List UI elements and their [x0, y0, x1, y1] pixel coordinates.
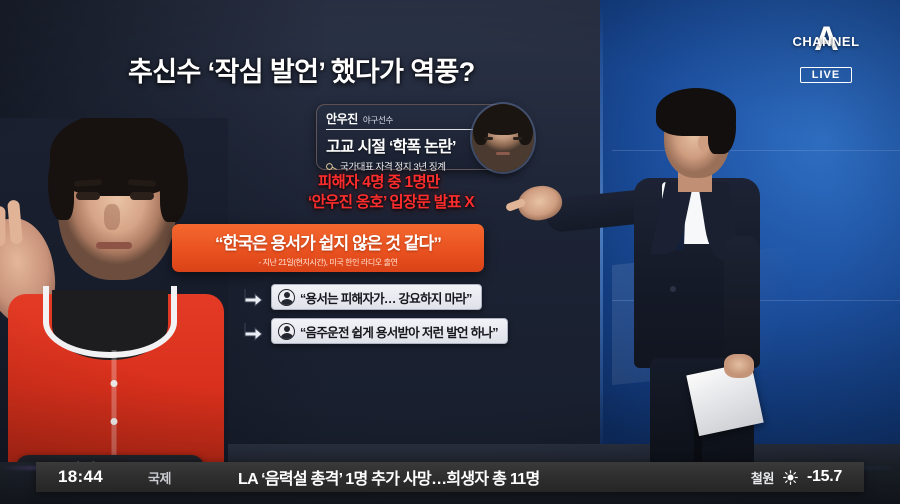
ticker-weather: 철원 -15.7: [751, 468, 864, 487]
portrait-eye: [484, 137, 493, 140]
quote-attribution: - 지난 21일(현지시간), 미국 한인 라디오 출연: [258, 257, 397, 268]
comment-row: “용서는 피해자가… 강요하지 마라”: [242, 284, 482, 310]
user-avatar-icon: [278, 323, 295, 340]
portrait-mouth: [496, 152, 511, 155]
ticker-category: 국제: [148, 468, 238, 487]
comment-row: “음주운전 쉽게 용서받아 저런 발언 하나”: [242, 318, 508, 344]
comment-text: “음주운전 쉽게 용서받아 저런 발언 하나”: [300, 322, 498, 341]
reply-arrow-icon: [242, 321, 264, 341]
weather-region: 철원: [751, 468, 774, 487]
user-avatar-icon: [278, 289, 295, 306]
portrait-hair-left: [473, 114, 488, 145]
weather-temperature: -15.7: [807, 468, 842, 486]
red-note-line-2: ‘안우진 옹호’ 입장문 발표 X: [308, 190, 474, 212]
portrait-hair-right: [518, 114, 533, 145]
channel-logo-mark: A CHANNEL: [780, 22, 872, 62]
ticker-clock: 18:44: [36, 467, 148, 487]
main-headline: 추신수 ‘작심 발언’ 했다가 역풍?: [128, 50, 475, 89]
live-badge: LIVE: [800, 67, 852, 83]
reply-arrow-icon: [242, 287, 264, 307]
news-ticker: 18:44 국제 LA ‘음력설 총격’ 1명 추가 사망…희생자 총 11명 …: [36, 462, 864, 492]
red-note-line-1: 피해자 4명 중 1명만: [318, 170, 440, 192]
sun-icon: [783, 470, 798, 485]
subject-name: 안우진: [326, 110, 358, 127]
quote-banner: “한국은 용서가 쉽지 않은 것 같다” - 지난 21일(현지시간), 미국 …: [172, 224, 484, 272]
quote-text: “한국은 용서가 쉽지 않은 것 같다”: [215, 229, 441, 254]
comment-bubble: “음주운전 쉽게 용서받아 저런 발언 하나”: [271, 318, 508, 344]
broadcast-screen: ANDER 추신수 야구선수 A CHANNEL LIVE: [0, 0, 900, 504]
portrait-eye: [513, 137, 522, 140]
ahn-woojin-portrait: [472, 104, 534, 172]
ticker-headline: LA ‘음력설 총격’ 1명 추가 사망…희생자 총 11명: [238, 465, 751, 489]
comment-text: “용서는 피해자가… 강요하지 마라”: [300, 288, 472, 307]
subject-role: 야구선수: [363, 114, 393, 126]
channel-logo: A CHANNEL LIVE: [780, 22, 872, 88]
comment-bubble: “용서는 피해자가… 강요하지 마라”: [271, 284, 482, 310]
channel-logo-text: CHANNEL: [792, 34, 859, 49]
